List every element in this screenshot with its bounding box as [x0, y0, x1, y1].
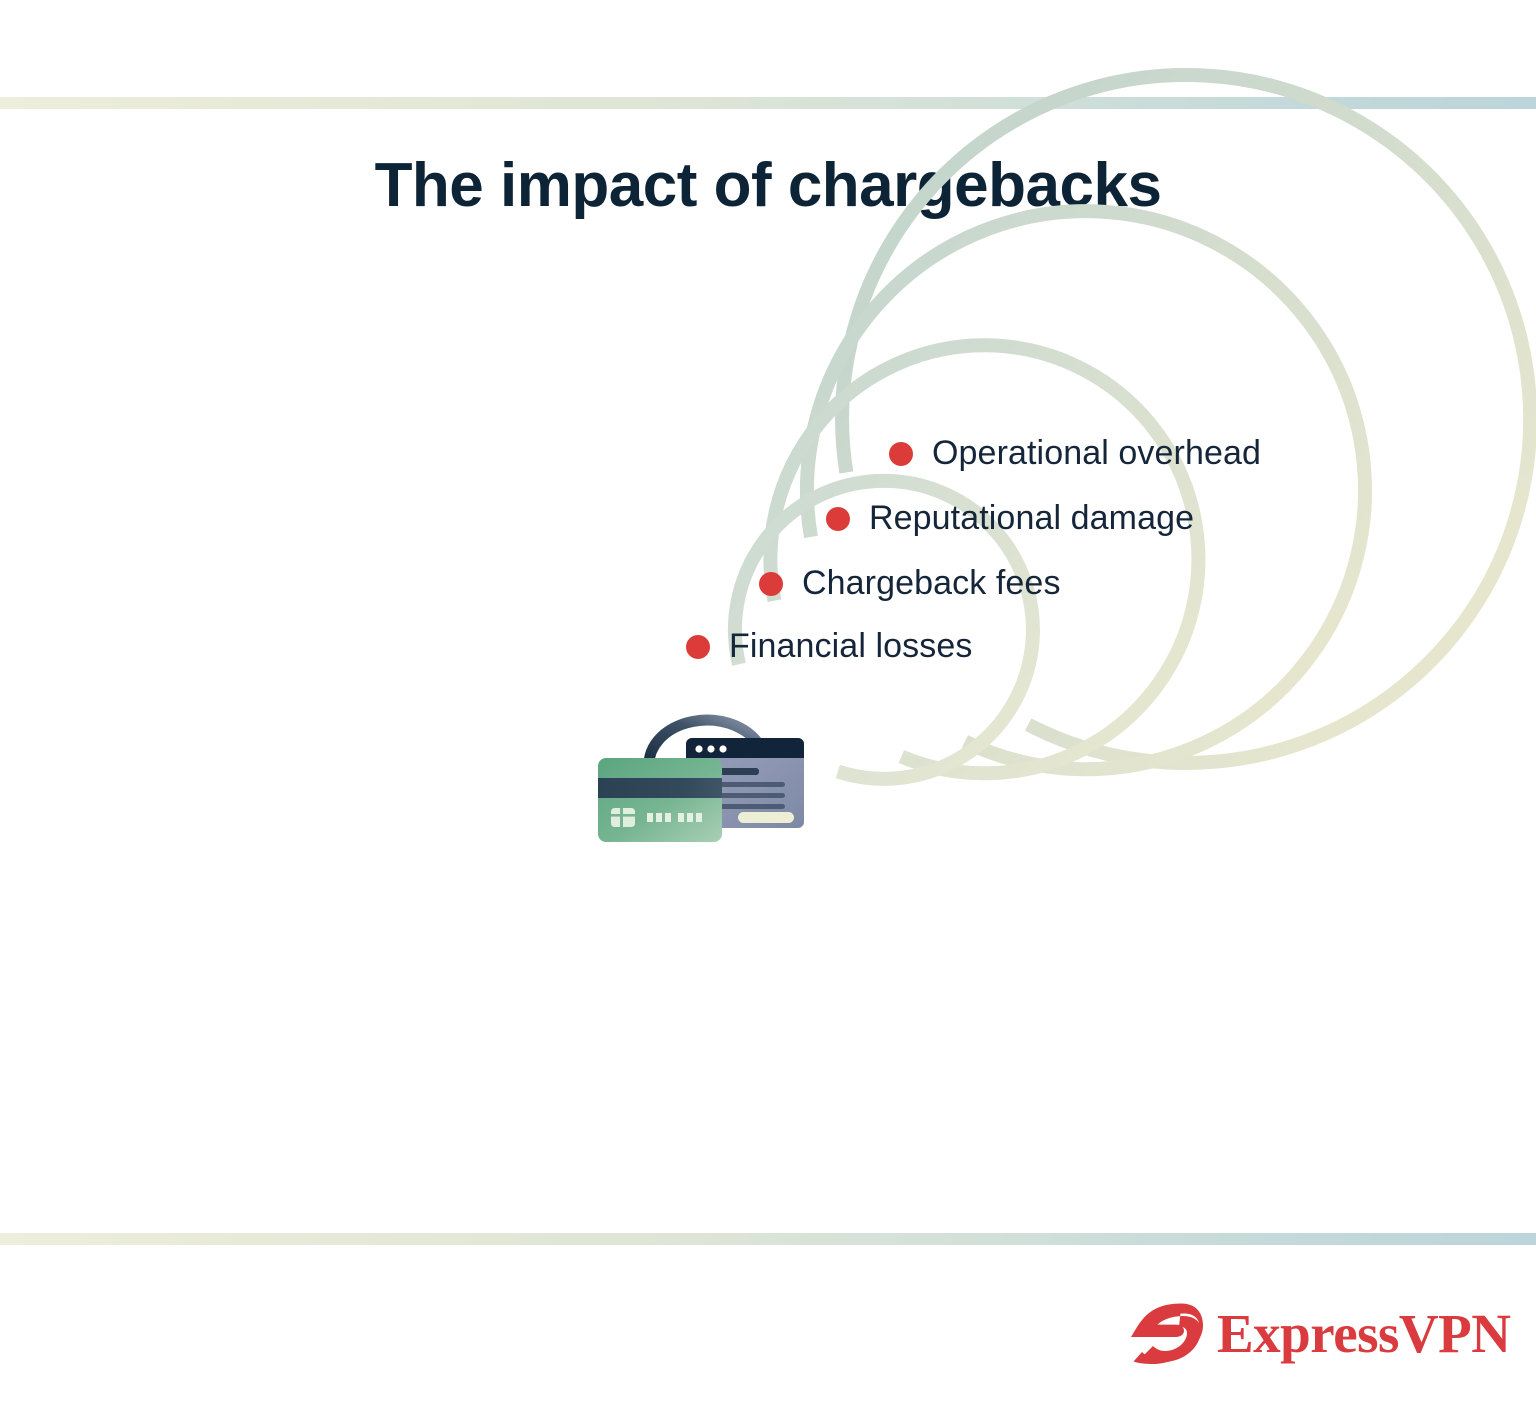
expressvpn-wordmark: ExpressVPN [1217, 1306, 1510, 1361]
list-item-label: Operational overhead [932, 434, 1261, 473]
bullet-dot-icon [826, 507, 850, 531]
bullet-dot-icon [759, 572, 783, 596]
list-item-label: Financial losses [729, 627, 973, 666]
bullet-dot-icon [686, 635, 710, 659]
credit-card-icon [598, 758, 722, 842]
list-item-label: Reputational damage [869, 499, 1194, 538]
expressvpn-e-mark-icon [1131, 1302, 1203, 1364]
chargeback-credit-card-browser-icon [592, 706, 808, 858]
list-item-label: Chargeback fees [802, 564, 1061, 603]
list-item-operational-overhead[interactable]: Operational overhead [889, 434, 1261, 473]
list-item-reputational-damage[interactable]: Reputational damage [826, 499, 1194, 538]
list-item-chargeback-fees[interactable]: Chargeback fees [759, 564, 1061, 603]
list-item-financial-losses[interactable]: Financial losses [686, 627, 973, 666]
expressvpn-logo: ExpressVPN [1131, 1296, 1471, 1370]
bullet-dot-icon [889, 442, 913, 466]
